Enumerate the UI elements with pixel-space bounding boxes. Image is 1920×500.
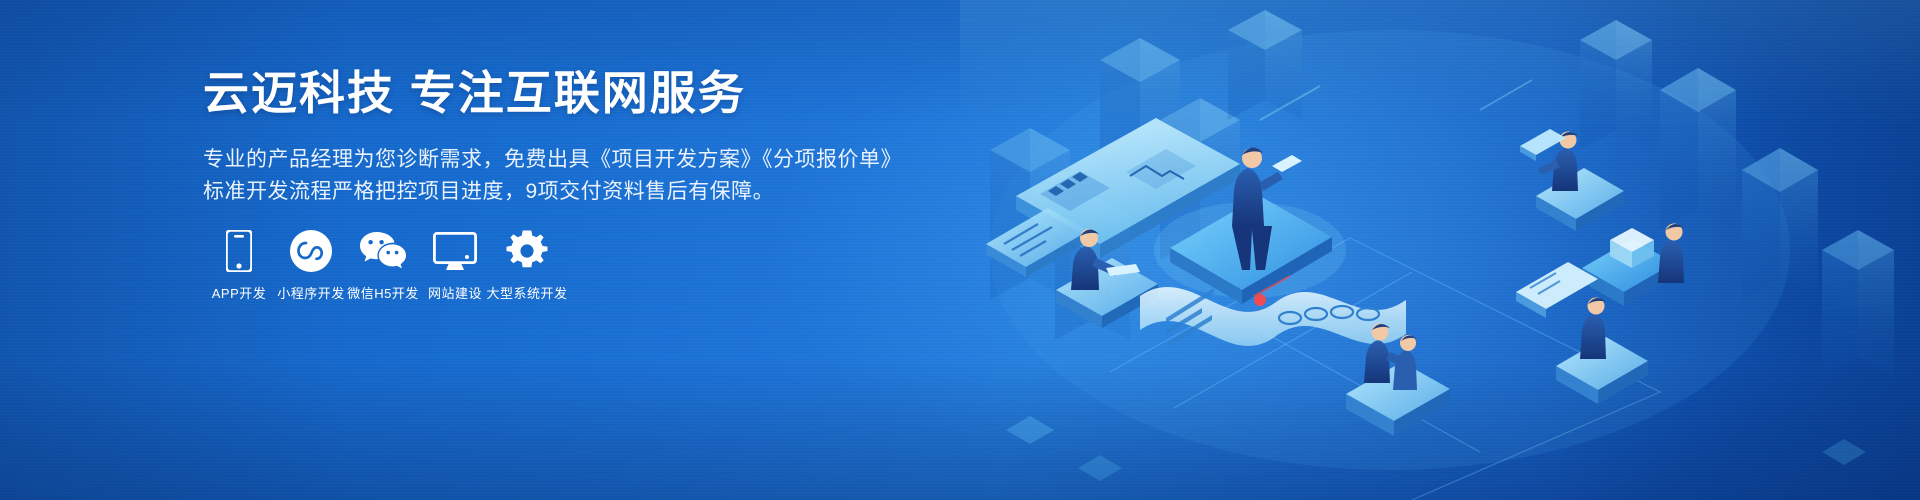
banner-description: 专业的产品经理为您诊断需求，免费出具《项目开发方案》《分项报价单》 标准开发流程… — [203, 144, 923, 208]
description-line-2: 标准开发流程严格把控项目进度，9项交付资料售后有保障。 — [203, 176, 923, 208]
banner-title: 云迈科技 专注互联网服务 — [203, 62, 923, 124]
banner-content: 云迈科技 专注互联网服务 专业的产品经理为您诊断需求，免费出具《项目开发方案》《… — [203, 62, 923, 208]
wechat-icon — [359, 228, 407, 272]
service-label: 网站建设 — [428, 286, 482, 302]
mini-program-icon — [290, 228, 332, 272]
service-item-large-system[interactable]: 大型系统开发 — [491, 228, 563, 302]
illustration-artwork — [960, 0, 1920, 500]
description-line-1: 专业的产品经理为您诊断需求，免费出具《项目开发方案》《分项报价单》 — [203, 144, 923, 176]
service-label: 大型系统开发 — [487, 286, 568, 302]
service-list: APP开发 小程序开发 微信 — [203, 228, 563, 302]
monitor-icon — [433, 228, 477, 272]
service-label: 微信H5开发 — [347, 286, 419, 302]
promo-banner: 云迈科技 专注互联网服务 专业的产品经理为您诊断需求，免费出具《项目开发方案》《… — [0, 0, 1920, 500]
service-label: APP开发 — [212, 286, 267, 302]
mobile-phone-icon — [226, 228, 252, 272]
service-item-website[interactable]: 网站建设 — [419, 228, 491, 302]
service-item-wechat[interactable]: 微信H5开发 — [347, 228, 419, 302]
service-label: 小程序开发 — [277, 286, 345, 302]
service-item-app[interactable]: APP开发 — [203, 228, 275, 302]
service-item-mini-program[interactable]: 小程序开发 — [275, 228, 347, 302]
gear-icon — [506, 228, 548, 272]
